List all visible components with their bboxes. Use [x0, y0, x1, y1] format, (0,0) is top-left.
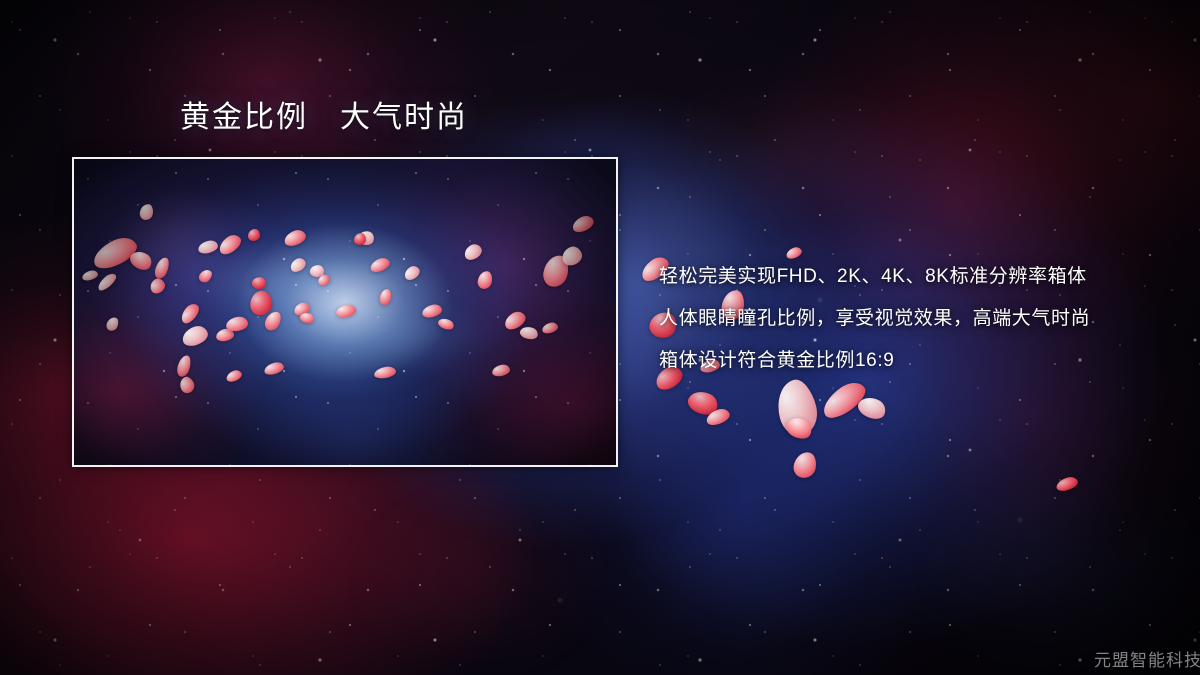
display-panel-image [74, 159, 616, 465]
feature-description: 轻松完美实现FHD、2K、4K、8K标准分辨率箱体 人体眼睛瞳孔比例，享受视觉效… [659, 256, 1179, 382]
feature-line-3: 箱体设计符合黄金比例16:9 [659, 340, 1179, 382]
page-title: 黄金比例 大气时尚 [180, 101, 468, 135]
feature-line-1: 轻松完美实现FHD、2K、4K、8K标准分辨率箱体 [659, 256, 1179, 298]
display-panel-frame [72, 157, 618, 467]
feature-line-2: 人体眼睛瞳孔比例，享受视觉效果，高端大气时尚 [659, 298, 1179, 340]
panel-vignette [74, 159, 616, 465]
presentation-slide: 黄金比例 大气时尚 [0, 0, 1200, 675]
watermark: 元盟智能科技 [1094, 646, 1200, 671]
